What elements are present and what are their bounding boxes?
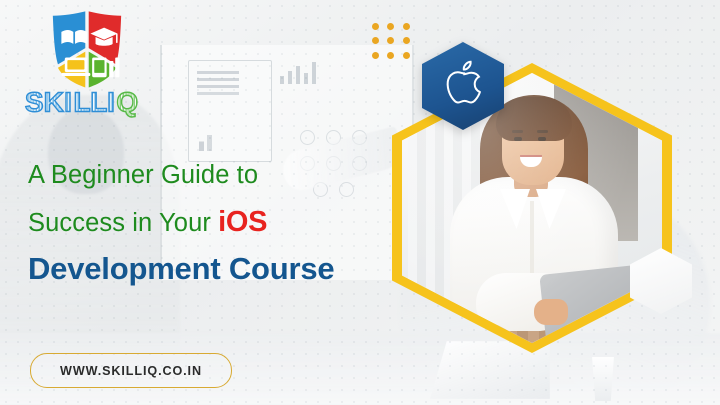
headline-line-2-prefix: Success in Your bbox=[28, 209, 211, 237]
skilliq-logo-mark bbox=[44, 8, 130, 90]
svg-text:S: S bbox=[25, 86, 44, 117]
headline-block: A Beginner Guide to Success in Your iOS … bbox=[28, 163, 388, 284]
photo-hand-supporting bbox=[626, 319, 656, 343]
dot-grid-accent bbox=[370, 22, 412, 60]
skilliq-wordmark: S K I L L I Q bbox=[24, 86, 164, 120]
headline-line-3: Development Course bbox=[28, 253, 388, 284]
promo-banner: S K I L L I Q A Beginner Guide to Succes… bbox=[0, 0, 720, 405]
svg-text:L: L bbox=[90, 86, 108, 117]
svg-text:I: I bbox=[107, 86, 115, 117]
svg-text:I: I bbox=[64, 86, 72, 117]
apple-icon bbox=[443, 60, 485, 110]
brand-logo[interactable]: S K I L L I Q bbox=[18, 8, 168, 120]
website-url-badge[interactable]: WWW.SKILLIQ.CO.IN bbox=[30, 353, 232, 388]
headline-ios-highlight: iOS bbox=[218, 206, 267, 238]
website-url-text: WWW.SKILLIQ.CO.IN bbox=[60, 364, 202, 378]
headline-line-2: Success in Your iOS bbox=[28, 208, 388, 253]
svg-text:K: K bbox=[44, 86, 65, 117]
svg-text:Q: Q bbox=[116, 86, 138, 117]
headline-line-1: A Beginner Guide to bbox=[28, 163, 388, 208]
svg-text:L: L bbox=[73, 86, 91, 117]
apple-logo-hexagon bbox=[422, 42, 504, 130]
